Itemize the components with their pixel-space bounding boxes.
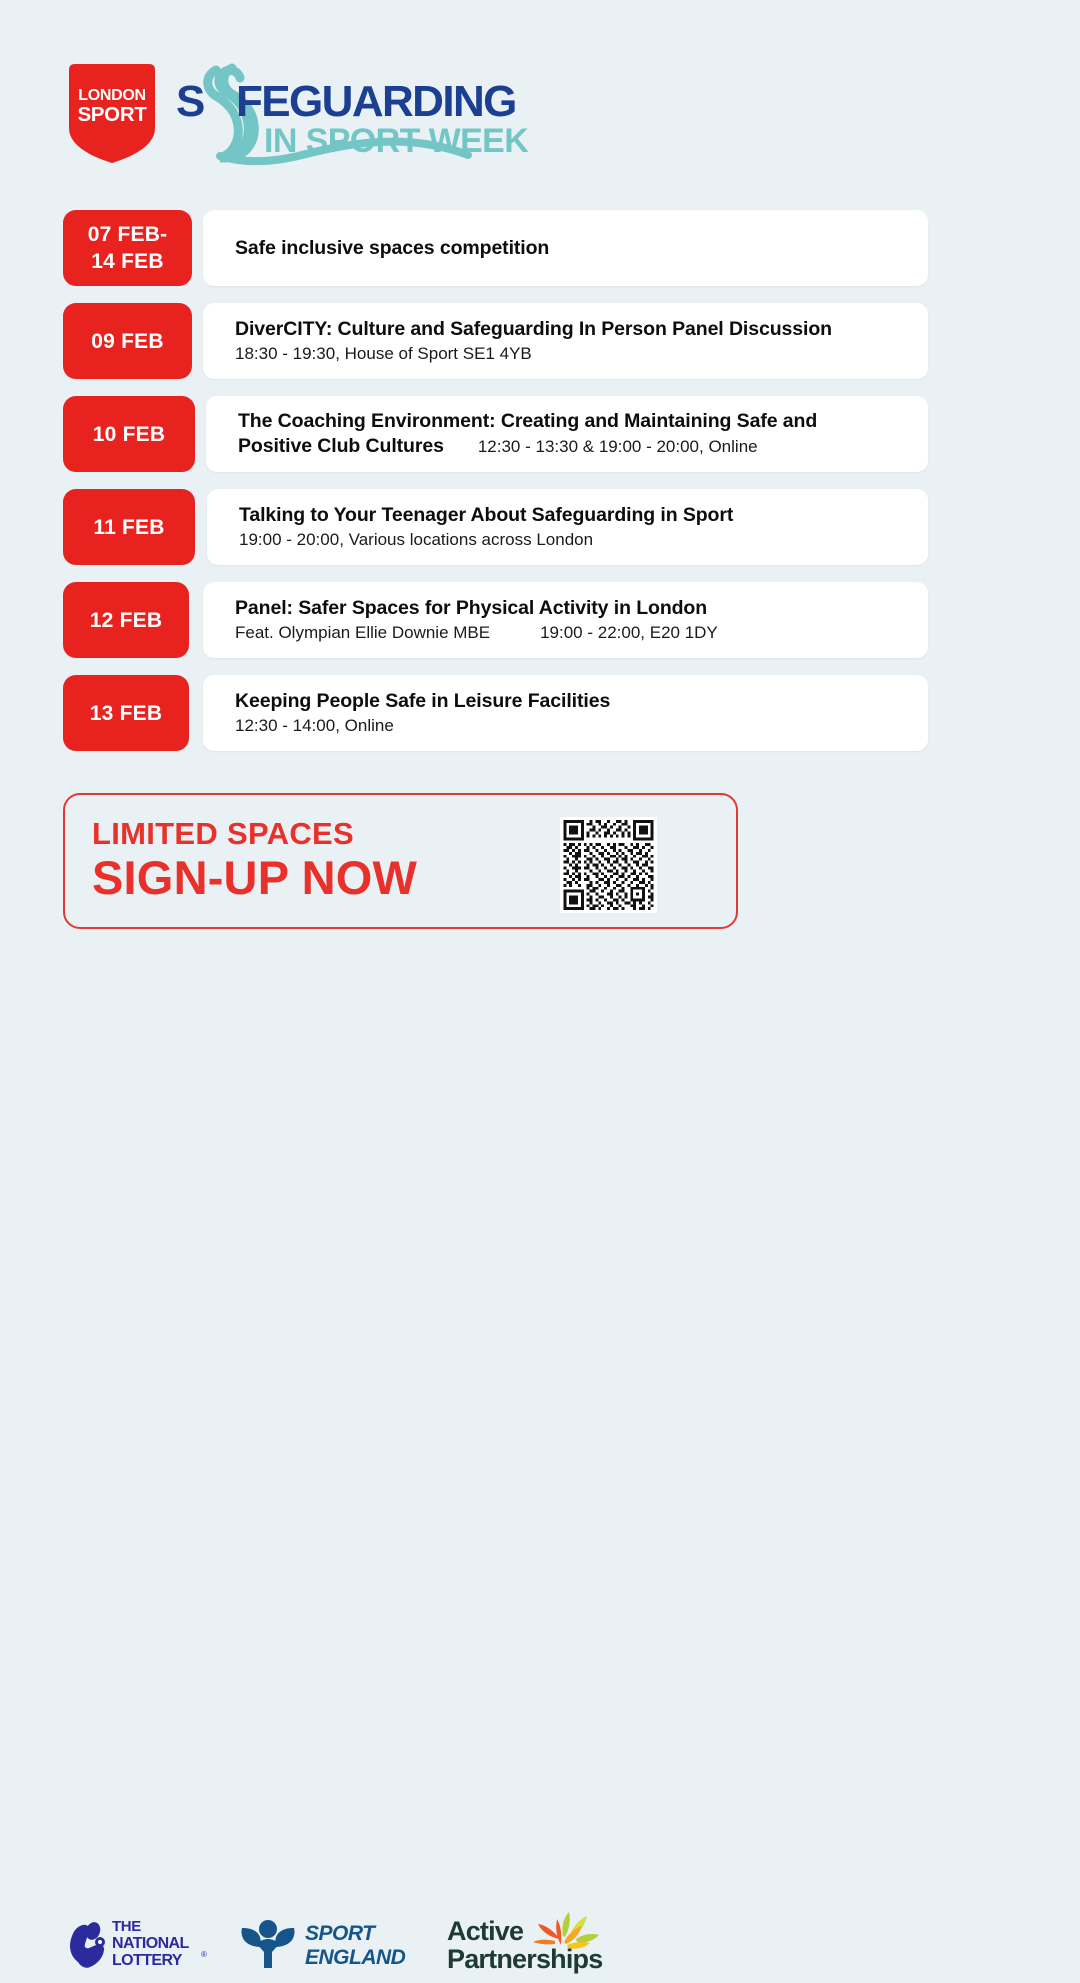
event-title: Talking to Your Teenager About Safeguard… xyxy=(239,503,733,528)
event-row[interactable]: 07 FEB- 14 FEB Safe inclusive spaces com… xyxy=(0,210,1080,296)
event-date-line-1: 07 FEB- xyxy=(88,223,168,246)
event-row[interactable]: 10 FEB The Coaching Environment: Creatin… xyxy=(0,396,1080,482)
footer-partner-logos: THE NATIONAL LOTTERY ® SPORT ENGLAND xyxy=(0,950,1080,1040)
event-card[interactable]: The Coaching Environment: Creating and M… xyxy=(206,396,928,472)
limited-spaces-label: LIMITED SPACES xyxy=(92,817,417,851)
signup-callout-box[interactable]: LIMITED SPACES SIGN-UP NOW xyxy=(63,793,738,929)
signup-text-group: LIMITED SPACES SIGN-UP NOW xyxy=(92,817,417,904)
event-card[interactable]: Talking to Your Teenager About Safeguard… xyxy=(207,489,928,565)
event-subtitle: Feat. Olympian Ellie Downie MBE xyxy=(235,621,490,645)
lottery-trademark: ® xyxy=(201,1950,207,1959)
event-row[interactable]: 12 FEB Panel: Safer Spaces for Physical … xyxy=(0,582,1080,668)
event-subtitle: 18:30 - 19:30, House of Sport SE1 4YB xyxy=(235,342,532,366)
event-date-line-1: 11 FEB xyxy=(93,514,164,541)
sport-england-figure-icon: SPORT ENGLAND xyxy=(238,1916,413,1972)
header: LONDON SPORT S FEGUARDING IN SPORT WEEK xyxy=(0,0,1080,200)
lottery-line-3: LOTTERY xyxy=(112,1952,183,1969)
event-row[interactable]: 11 FEB Talking to Your Teenager About Sa… xyxy=(0,489,1080,575)
event-date-badge: 11 FEB xyxy=(63,489,195,565)
event-date-badge: 09 FEB xyxy=(63,303,192,379)
event-time-location: 12:30 - 13:30 & 19:00 - 20:00, Online xyxy=(478,437,758,457)
event-date-line-1: 10 FEB xyxy=(93,421,165,448)
event-card[interactable]: Safe inclusive spaces competition xyxy=(203,210,928,286)
active-partnerships-line-1: Active xyxy=(447,1916,524,1946)
wordmark-line-1: S xyxy=(176,77,204,126)
event-subtitle: 12:30 - 14:00, Online xyxy=(235,714,394,738)
lottery-line-1: THE xyxy=(112,1918,141,1935)
event-subtitle: 19:00 - 20:00, Various locations across … xyxy=(239,528,593,552)
event-date-line-1: 13 FEB xyxy=(90,700,162,727)
event-time-location: 19:00 - 22:00, E20 1DY xyxy=(540,623,718,643)
event-row[interactable]: 13 FEB Keeping People Safe in Leisure Fa… xyxy=(0,675,1080,761)
sign-up-now-label: SIGN-UP NOW xyxy=(92,852,417,904)
logo-line-2: SPORT xyxy=(63,106,161,125)
active-partnerships-line-2: Partnerships xyxy=(447,1944,602,1974)
qr-code-icon xyxy=(560,817,657,913)
lottery-crossed-fingers-icon: THE NATIONAL LOTTERY ® xyxy=(60,1912,210,1974)
event-row[interactable]: 09 FEB DiverCITY: Culture and Safeguardi… xyxy=(0,303,1080,389)
event-title-line-2: Positive Club Cultures xyxy=(238,434,444,459)
event-date-badge: 10 FEB xyxy=(63,396,195,472)
event-schedule-list: 07 FEB- 14 FEB Safe inclusive spaces com… xyxy=(0,210,1080,768)
event-card[interactable]: DiverCITY: Culture and Safeguarding In P… xyxy=(203,303,928,379)
event-title: The Coaching Environment: Creating and M… xyxy=(238,409,817,434)
active-partnerships-flame-icon: Active Partnerships xyxy=(443,1908,608,1978)
event-date-badge: 12 FEB xyxy=(63,582,189,658)
event-date-badge: 13 FEB xyxy=(63,675,189,751)
london-sport-logo-text: LONDON SPORT xyxy=(63,87,161,124)
lottery-line-2: NATIONAL xyxy=(112,1935,189,1952)
event-card[interactable]: Panel: Safer Spaces for Physical Activit… xyxy=(203,582,928,658)
sport-england-line-2: ENGLAND xyxy=(305,1946,406,1969)
safeguarding-in-sport-week-wordmark: S FEGUARDING IN SPORT WEEK xyxy=(176,58,536,170)
event-date-badge: 07 FEB- 14 FEB xyxy=(63,210,192,286)
event-title: Keeping People Safe in Leisure Facilitie… xyxy=(235,689,610,714)
the-national-lottery-logo: THE NATIONAL LOTTERY ® xyxy=(60,1912,210,1974)
wordmark-line-1b: FEGUARDING xyxy=(236,77,516,126)
event-title: Safe inclusive spaces competition xyxy=(235,236,549,261)
sport-england-line-1: SPORT xyxy=(305,1922,377,1945)
active-partnerships-logo: Active Partnerships xyxy=(443,1908,608,1978)
event-date-line-2: 14 FEB xyxy=(91,250,163,273)
event-title: DiverCITY: Culture and Safeguarding In P… xyxy=(235,317,832,342)
event-title: Panel: Safer Spaces for Physical Activit… xyxy=(235,596,707,621)
wordmark-graphic: S FEGUARDING IN SPORT WEEK xyxy=(176,58,536,170)
sport-england-logo: SPORT ENGLAND xyxy=(238,1916,413,1972)
qr-code[interactable] xyxy=(560,817,657,913)
event-date-line-1: 09 FEB xyxy=(91,328,163,355)
london-sport-logo: LONDON SPORT xyxy=(63,62,161,165)
event-card[interactable]: Keeping People Safe in Leisure Facilitie… xyxy=(203,675,928,751)
event-date-line-1: 12 FEB xyxy=(90,607,162,634)
wordmark-line-2: IN SPORT WEEK xyxy=(264,122,529,160)
